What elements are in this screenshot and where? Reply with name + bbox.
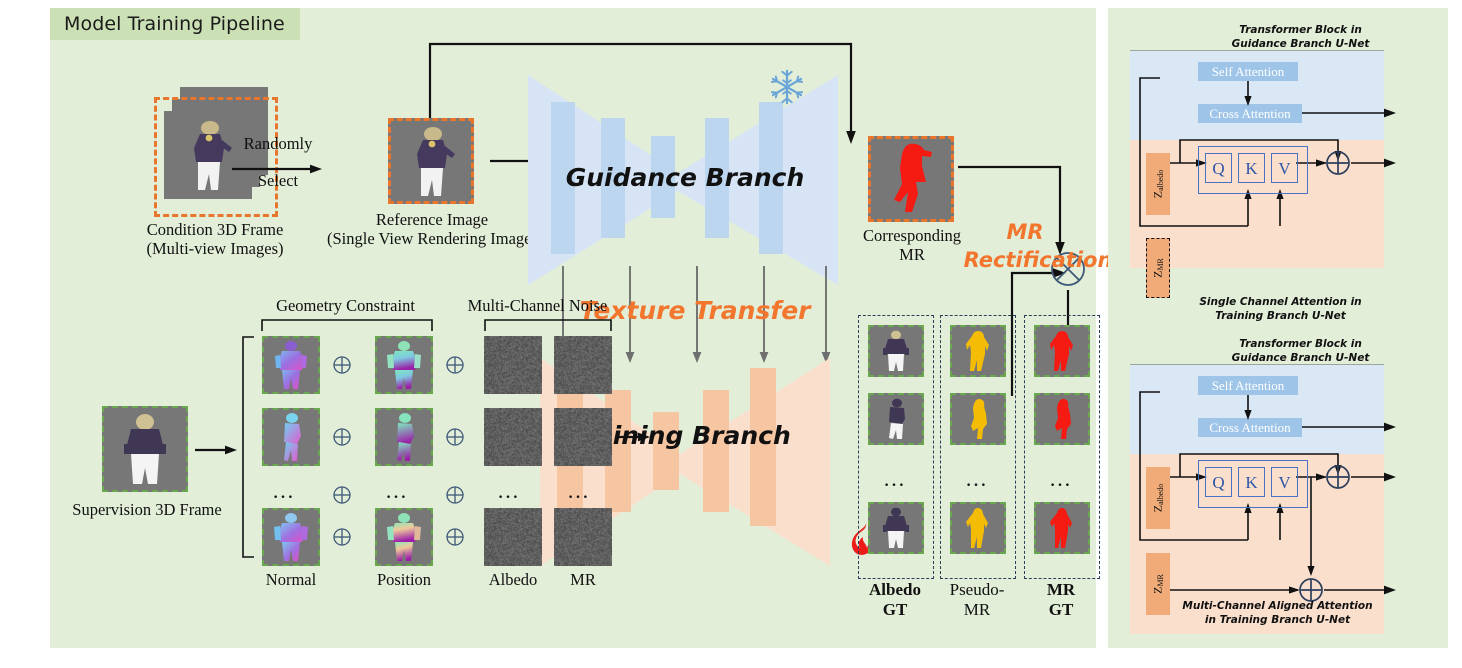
position-map-thumb-2 [375, 408, 433, 466]
mr-rectification-label-1: MR [980, 220, 1070, 244]
block1-v-box: V [1271, 153, 1298, 183]
oplus-icon [333, 486, 351, 504]
randomly-select-label-2: Select [228, 171, 328, 190]
multi-channel-noise-brace [484, 318, 612, 337]
pseudo-mr-thumb-2 [950, 393, 1006, 445]
normal-map-icon [271, 512, 311, 562]
figure-root: Model Training Pipeline Condition 3D Fra… [0, 0, 1462, 668]
geometry-constraint-group-label: Geometry Constraint [238, 296, 453, 315]
mr-silhouette-icon [1049, 398, 1075, 440]
rows-left-brace [240, 336, 256, 563]
block1-z-mr: ZMR [1146, 238, 1170, 298]
mr-silhouette-icon [1046, 330, 1078, 372]
pseudo-mr-caption: Pseudo- MR [937, 580, 1017, 620]
block1-z-mr-label: ZMR [1151, 258, 1166, 278]
albedo-person-icon [882, 398, 910, 440]
normal-map-thumb-2 [262, 408, 320, 466]
albedo-person-icon [880, 507, 912, 549]
mr-gt-thumb-3 [1034, 502, 1090, 554]
normal-map-icon [275, 412, 307, 462]
noise-to-training-arrow [618, 432, 650, 442]
supervision-to-rows-arrow [195, 445, 237, 455]
block1-bottom-caption: Single Channel Attention in Training Bra… [1178, 296, 1383, 323]
mr-gt-thumb-1 [1034, 325, 1090, 377]
main-pipeline-panel: Model Training Pipeline Condition 3D Fra… [50, 8, 1096, 648]
normal-map-thumb-3 [262, 508, 320, 566]
noise-albedo-2 [484, 408, 542, 466]
snowflake-icon [768, 68, 806, 111]
normal-column-ellipsis: … [272, 478, 296, 504]
corresponding-mr-thumb [868, 136, 954, 222]
pseudo-mr-thumb-1 [950, 325, 1006, 377]
mr-gt-caption: MR GT [1021, 580, 1101, 620]
mr-silhouette-icon [882, 142, 940, 216]
block2-z-mr: ZMR [1146, 553, 1170, 615]
pseudo-mr-silhouette-icon [965, 398, 991, 440]
position-map-icon [384, 512, 424, 562]
block2-z-albedo-label: Zalbedo [1151, 484, 1166, 512]
noise-albedo-1 [484, 336, 542, 394]
block1-q-box: Q [1205, 153, 1232, 183]
oplus-icon [446, 528, 464, 546]
block2-z-albedo: Zalbedo [1146, 467, 1170, 529]
training-bar-4 [703, 390, 729, 512]
albedo-gt-thumb-2 [868, 393, 924, 445]
person-render-icon [117, 412, 173, 486]
condition-frame-orange-outline [154, 97, 278, 217]
normal-map-thumb-1 [262, 336, 320, 394]
position-column-ellipsis: … [385, 478, 409, 504]
mr-column-label: MR [552, 570, 614, 589]
albedo-gt-thumb-1 [868, 325, 924, 377]
block2-k-box: K [1238, 467, 1265, 497]
guidance-branch-label: Guidance Branch [540, 163, 830, 192]
mr-noise-ellipsis: … [567, 478, 591, 504]
oplus-icon [446, 486, 464, 504]
albedo-noise-ellipsis: … [497, 478, 521, 504]
mr-gt-ellipsis: … [1049, 466, 1073, 492]
noise-mr-3 [554, 508, 612, 566]
block2-v-box: V [1271, 467, 1298, 497]
page-title: Model Training Pipeline [64, 13, 285, 35]
noise-albedo-3 [484, 508, 542, 566]
geometry-constraint-brace [261, 318, 433, 337]
position-map-icon [384, 340, 424, 390]
pseudo-mr-silhouette-icon [962, 507, 994, 549]
block2-bottom-caption: Multi-Channel Aligned Attention in Train… [1170, 600, 1385, 627]
block1-z-albedo-label: Zalbedo [1151, 170, 1166, 198]
block1-z-albedo: Zalbedo [1146, 153, 1170, 215]
oplus-icon [333, 356, 351, 374]
position-map-thumb-3 [375, 508, 433, 566]
albedo-person-icon [880, 330, 912, 372]
albedo-gt-thumb-3 [868, 502, 924, 554]
attention-detail-panel: Transformer Block in Guidance Branch U-N… [1108, 8, 1448, 648]
albedo-gt-ellipsis: … [883, 466, 907, 492]
albedo-gt-caption: Albedo GT [855, 580, 935, 620]
supervision-3d-frame-thumb [102, 406, 188, 492]
block2-q-box: Q [1205, 467, 1232, 497]
multi-channel-noise-group-label: Multi-Channel Noise [425, 296, 650, 315]
block2-z-mr-label: ZMR [1151, 574, 1166, 594]
condition-frame-caption: Condition 3D Frame (Multi-view Images) [110, 220, 320, 259]
reference-image-caption: Reference Image (Single View Rendering I… [318, 210, 546, 249]
pseudo-mr-ellipsis: … [965, 466, 989, 492]
randomly-select-label: Randomly [228, 134, 328, 153]
albedo-column-label: Albedo [480, 570, 546, 589]
noise-mr-1 [554, 336, 612, 394]
oplus-icon [333, 428, 351, 446]
pseudo-mr-silhouette-icon [962, 330, 994, 372]
noise-mr-2 [554, 408, 612, 466]
position-map-thumb-1 [375, 336, 433, 394]
oplus-icon [333, 528, 351, 546]
mr-gt-thumb-2 [1034, 393, 1090, 445]
pseudo-mr-thumb-3 [950, 502, 1006, 554]
mr-rectification-label-2: Rectification [958, 248, 1118, 272]
mr-silhouette-icon [1046, 507, 1078, 549]
supervision-frame-caption: Supervision 3D Frame [62, 500, 232, 519]
oplus-icon [446, 428, 464, 446]
normal-column-label: Normal [258, 570, 324, 589]
position-map-icon [388, 412, 420, 462]
oplus-icon [446, 356, 464, 374]
block1-k-box: K [1238, 153, 1265, 183]
position-column-label: Position [368, 570, 440, 589]
normal-map-icon [271, 340, 311, 390]
